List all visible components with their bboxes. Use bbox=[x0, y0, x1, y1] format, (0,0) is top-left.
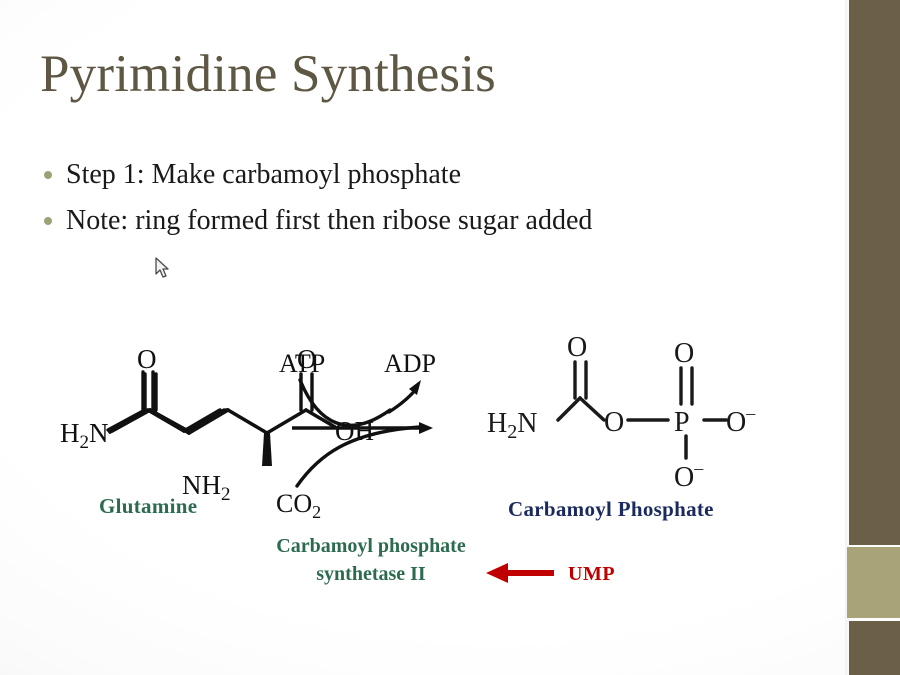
atom-label-ester-o: O bbox=[604, 407, 624, 438]
list-item: Step 1: Make carbamoyl phosphate bbox=[44, 155, 804, 195]
label-glutamine: Glutamine bbox=[99, 494, 197, 519]
bullet-text: Step 1: Make carbamoyl phosphate bbox=[66, 155, 461, 195]
label-carbamoyl-phosphate: Carbamoyl Phosphate bbox=[508, 497, 714, 522]
atom-label-h2n-product: H2N bbox=[487, 408, 537, 443]
enzyme-line-1: Carbamoyl phosphate bbox=[253, 532, 489, 560]
sidebar-bar-dark-top bbox=[849, 0, 900, 545]
cofactor-label-co2: CO2 bbox=[276, 489, 321, 522]
sidebar-bar-dark-bottom bbox=[849, 621, 900, 675]
atom-label-o-minus-bottom: O– bbox=[674, 458, 704, 493]
enzyme-line-2: synthetase II bbox=[253, 560, 489, 588]
atom-label-amide-o: O bbox=[137, 344, 157, 374]
sidebar-bar-tan bbox=[847, 547, 900, 618]
inhibition-arrow-icon bbox=[484, 562, 556, 584]
cofactor-label-adp: ADP bbox=[384, 349, 436, 378]
list-item: Note: ring formed first then ribose suga… bbox=[44, 201, 804, 241]
stereo-wedge-bond bbox=[262, 433, 272, 466]
page-title: Pyrimidine Synthesis bbox=[40, 43, 496, 105]
bullet-dot-icon bbox=[44, 217, 52, 225]
label-enzyme: Carbamoyl phosphate synthetase II bbox=[253, 532, 489, 588]
mouse-cursor-icon bbox=[155, 257, 171, 279]
phosphoryl-double-bond bbox=[681, 368, 692, 404]
cofactor-label-atp: ATP bbox=[279, 349, 325, 378]
bullet-dot-icon bbox=[44, 171, 52, 179]
atom-label-phosphorus: P bbox=[674, 407, 690, 438]
carbamoyl-double-bond bbox=[575, 362, 586, 398]
amide-double-bond bbox=[145, 374, 156, 410]
atom-label-carbonyl-o: O bbox=[567, 332, 587, 363]
slide-canvas: Pyrimidine Synthesis Step 1: Make carbam… bbox=[0, 0, 900, 675]
atom-label-o-minus-right: O– bbox=[726, 403, 756, 438]
bullet-list: Step 1: Make carbamoyl phosphate Note: r… bbox=[44, 155, 804, 247]
bullet-text: Note: ring formed first then ribose suga… bbox=[66, 201, 592, 241]
carbamoyl-phosphate-skeleton bbox=[558, 398, 726, 458]
atom-label-h2n: H2N bbox=[60, 418, 109, 453]
label-ump: UMP bbox=[568, 563, 615, 586]
atom-label-phosphoryl-o: O bbox=[674, 338, 694, 369]
